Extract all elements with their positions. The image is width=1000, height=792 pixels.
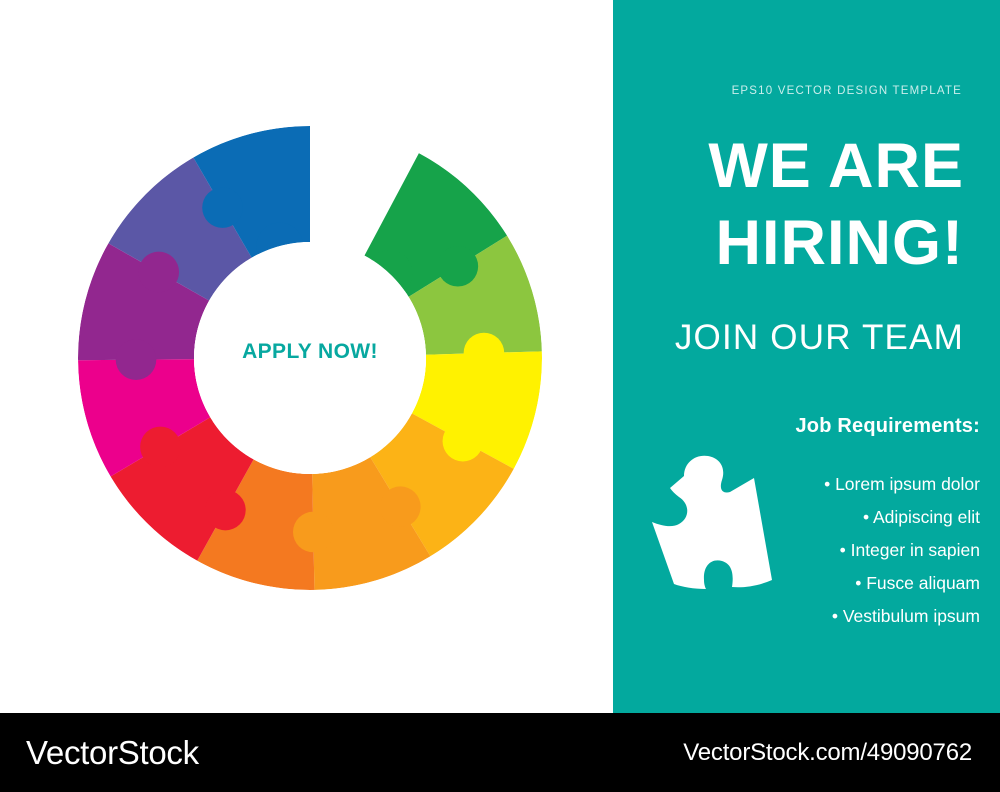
puzzle-knob — [140, 427, 181, 468]
puzzle-knob — [443, 421, 484, 462]
watermark-footer: VectorStock VectorStock.com/49090762 — [0, 713, 1000, 792]
puzzle-knob — [293, 512, 334, 553]
vectorstock-brand: VectorStock — [26, 734, 199, 772]
headline-line-2: HIRING! — [716, 212, 964, 275]
puzzle-wheel: APPLY NOW! — [60, 108, 560, 608]
subheadline: JOIN OUR TEAM — [675, 318, 964, 358]
puzzle-knob — [438, 246, 479, 287]
puzzle-piece-icon — [648, 448, 783, 608]
apply-now-label: APPLY NOW! — [60, 340, 560, 364]
job-requirements-title: Job Requirements: — [795, 415, 980, 438]
eps-template-label: EPS10 VECTOR DESIGN TEMPLATE — [732, 85, 962, 97]
headline-line-1: WE ARE — [708, 135, 964, 198]
right-panel: EPS10 VECTOR DESIGN TEMPLATE WE ARE HIRI… — [613, 0, 1000, 713]
left-panel: APPLY NOW! — [0, 0, 613, 713]
puzzle-knob — [202, 187, 243, 228]
puzzle-knob — [380, 486, 421, 527]
puzzle-knob — [205, 490, 246, 531]
poster-canvas: APPLY NOW! EPS10 VECTOR DESIGN TEMPLATE … — [0, 0, 1000, 713]
puzzle-knob — [138, 252, 179, 293]
vectorstock-url: VectorStock.com/49090762 — [683, 739, 972, 767]
